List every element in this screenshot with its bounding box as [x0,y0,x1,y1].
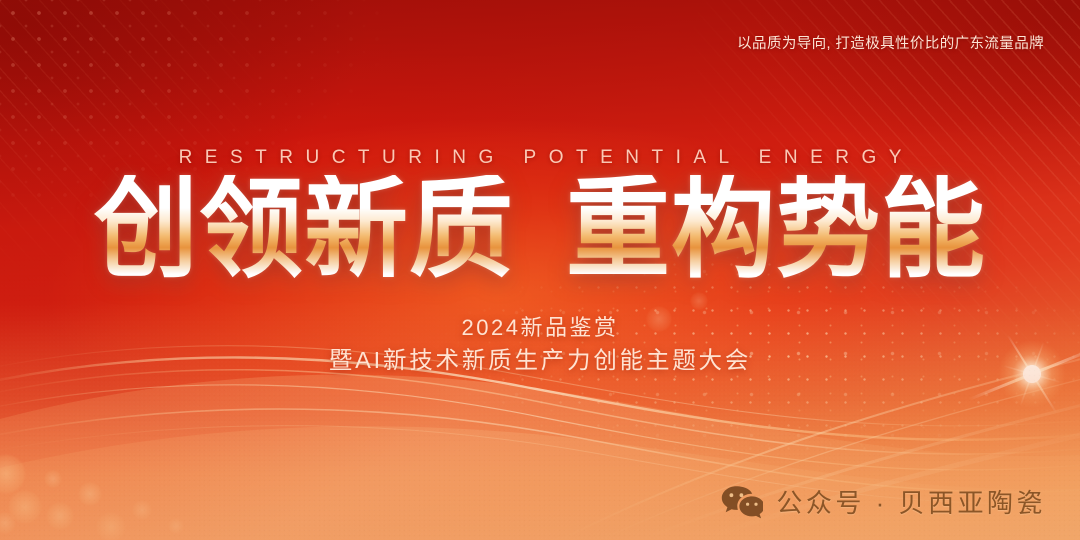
headline-part-two: 重构势能 [566,175,986,285]
headline-part-one: 创领新质 [94,175,514,285]
event-subtitle: 2024新品鉴赏 暨AI新技术新质生产力创能主题大会 [0,313,1080,378]
wechat-account-label: 公众号 · 贝西亚陶瓷 [776,483,1046,520]
wechat-account-footer[interactable]: 公众号 · 贝西亚陶瓷 [721,483,1046,520]
subtitle-line-two: 暨AI新技术新质生产力创能主题大会 [0,343,1080,378]
subtitle-line-one: 2024新品鉴赏 [0,313,1080,343]
promotional-banner: 以品质为导向, 打造极具性价比的广东流量品牌 RESTRUCTURING POT… [0,0,1080,540]
main-headline: 创领新质重构势能 [0,178,1080,282]
wechat-logo-icon [721,485,763,519]
english-eyebrow-text: RESTRUCTURING POTENTIAL ENERGY [0,147,1080,169]
brand-tagline: 以品质为导向, 打造极具性价比的广东流量品牌 [737,36,1044,53]
banner-content: 以品质为导向, 打造极具性价比的广东流量品牌 RESTRUCTURING POT… [0,0,1080,540]
